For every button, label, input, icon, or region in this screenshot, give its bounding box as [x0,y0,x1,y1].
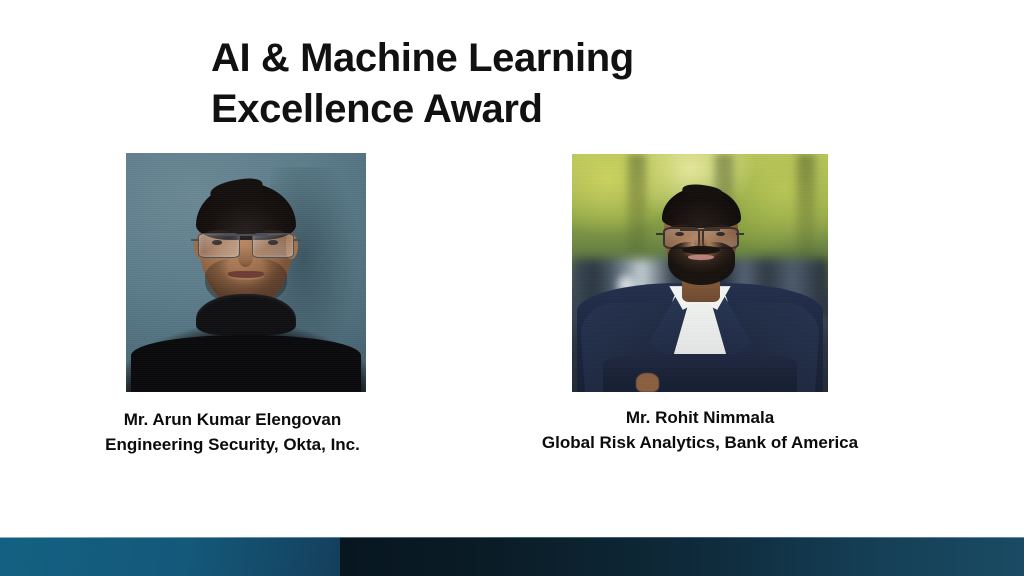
background-tree-trunk [628,154,646,263]
eyeglass-temple-left [191,239,200,241]
honoree-affiliation-right: Global Risk Analytics, Bank of America [470,430,930,455]
honoree-photo-left [126,153,366,392]
eyeglass-temple-right [736,233,744,235]
turtleneck-collar [196,294,297,335]
person-moustache [682,246,720,254]
background-tree-trunk [797,154,815,263]
eyeglass-bridge [680,229,721,231]
honoree-photo-right [572,154,828,392]
honoree-caption-left: Mr. Arun Kumar Elengovan Engineering Sec… [60,407,405,457]
eyeglass-lens-right [252,233,294,258]
eyeglass-temple-left [656,233,664,235]
award-slide: AI & Machine Learning Excellence Award [0,0,1024,576]
honoree-affiliation-left: Engineering Security, Okta, Inc. [60,432,405,457]
page-title: AI & Machine Learning Excellence Award [211,33,851,135]
page-title-line-1: AI & Machine Learning [211,33,851,84]
honoree-name-right: Mr. Rohit Nimmala [470,405,930,430]
person-crossed-arms [603,354,798,392]
person-hand [636,373,659,392]
footer-decorative-band [0,537,1024,576]
honoree-caption-right: Mr. Rohit Nimmala Global Risk Analytics,… [470,405,930,455]
footer-band-segment-teal [0,537,340,576]
person-shoulders-fill [131,335,361,392]
eyeglass-temple-right [293,239,302,241]
person-mouth [228,271,264,277]
eyeglass-lens-left [198,233,240,258]
footer-band-hairline [0,537,1024,538]
footer-band-segment-dark [340,537,1024,576]
eyeglass-bridge [224,234,267,236]
page-title-line-2: Excellence Award [211,84,851,135]
honoree-name-left: Mr. Arun Kumar Elengovan [60,407,405,432]
